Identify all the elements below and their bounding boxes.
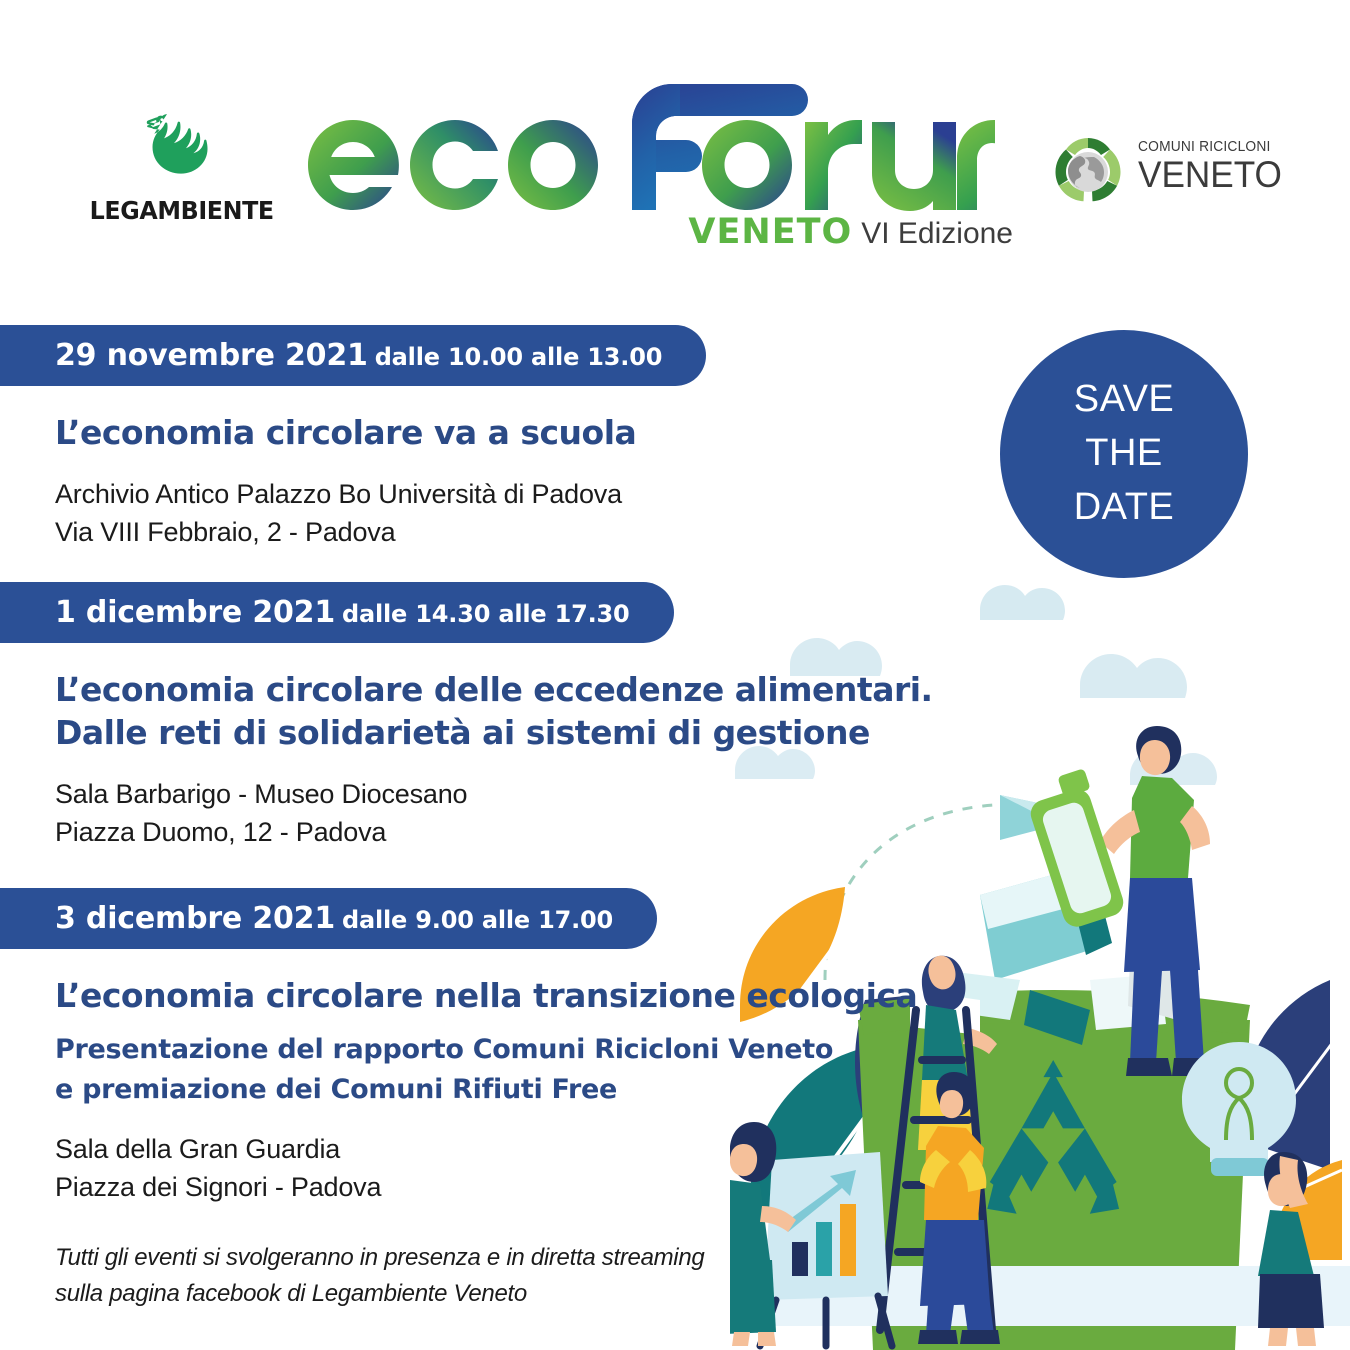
ricicloni-line2: VENETO bbox=[1138, 156, 1282, 195]
event-3-date: 3 dicembre 2021 bbox=[55, 901, 335, 936]
event-3-subtitle: Presentazione del rapporto Comuni Ricicl… bbox=[55, 1030, 917, 1110]
event-1: 29 novembre 2021dalle 10.00 alle 13.00 L… bbox=[0, 325, 706, 552]
event-3-title: L’economia circolare nella transizione e… bbox=[55, 975, 917, 1018]
event-2-body: L’economia circolare delle eccedenze ali… bbox=[0, 669, 933, 851]
save-line-3: DATE bbox=[1074, 481, 1175, 535]
swan-icon bbox=[132, 105, 224, 193]
poster-header: LEGAMBIENTE bbox=[0, 0, 1350, 300]
person-woman-bulb bbox=[1258, 1152, 1324, 1346]
plastic-bottle bbox=[1027, 768, 1127, 930]
footnote-line-1: Tutti gli eventi si svolgeranno in prese… bbox=[55, 1240, 704, 1276]
event-2-title: L’economia circolare delle eccedenze ali… bbox=[55, 669, 933, 755]
event-2-time: dalle 14.30 alle 17.30 bbox=[342, 600, 630, 628]
event-3-venue-line-2: Piazza dei Signori - Padova bbox=[55, 1168, 917, 1206]
person-man-orange bbox=[918, 1072, 1000, 1344]
event-1-time: dalle 10.00 alle 13.00 bbox=[375, 343, 663, 371]
person-man-green bbox=[1027, 726, 1218, 1076]
event-1-date-pill: 29 novembre 2021dalle 10.00 alle 13.00 bbox=[0, 325, 706, 386]
event-1-venue-line-1: Archivio Antico Palazzo Bo Università di… bbox=[55, 475, 706, 513]
ecoforum-logo: VENETOVI Edizione bbox=[295, 62, 1015, 262]
poster: LEGAMBIENTE bbox=[0, 0, 1350, 1350]
event-3-date-pill: 3 dicembre 2021dalle 9.00 alle 17.00 bbox=[0, 888, 657, 949]
event-3-venue-line-1: Sala della Gran Guardia bbox=[55, 1130, 917, 1168]
event-3-body: L’economia circolare nella transizione e… bbox=[0, 975, 917, 1206]
legambiente-wordmark: LEGAMBIENTE bbox=[90, 196, 266, 225]
event-1-body: L’economia circolare va a scuola Archivi… bbox=[0, 412, 706, 552]
light-bulb-icon bbox=[1182, 1042, 1296, 1176]
event-2: 1 dicembre 2021dalle 14.30 alle 17.30 L’… bbox=[0, 582, 933, 851]
event-3: 3 dicembre 2021dalle 9.00 alle 17.00 L’e… bbox=[0, 888, 917, 1206]
event-2-date: 1 dicembre 2021 bbox=[55, 595, 335, 630]
ecoforum-edition: VI Edizione bbox=[861, 217, 1013, 250]
ricicloni-line1: COMUNI RICICLONI bbox=[1138, 138, 1277, 155]
event-1-date: 29 novembre 2021 bbox=[55, 338, 368, 373]
save-the-date-badge: SAVE THE DATE bbox=[1000, 330, 1248, 578]
event-1-venue: Archivio Antico Palazzo Bo Università di… bbox=[55, 475, 706, 552]
footnote-line-2: sulla pagina facebook di Legambiente Ven… bbox=[55, 1276, 704, 1312]
event-3-time: dalle 9.00 alle 17.00 bbox=[342, 906, 613, 934]
event-3-venue: Sala della Gran Guardia Piazza dei Signo… bbox=[55, 1130, 917, 1207]
event-2-title-line-2: Dalle reti di solidarietà ai sistemi di … bbox=[55, 712, 933, 755]
recycling-symbol bbox=[987, 1060, 1119, 1214]
event-3-subtitle-line-1: Presentazione del rapporto Comuni Ricicl… bbox=[55, 1030, 917, 1070]
recycling-globe-icon bbox=[1048, 132, 1128, 212]
save-line-1: SAVE bbox=[1074, 373, 1175, 427]
chart-bar-1 bbox=[792, 1242, 808, 1276]
chart-bar-3 bbox=[840, 1204, 856, 1276]
event-1-title: L’economia circolare va a scuola bbox=[55, 412, 706, 455]
ricicloni-text: COMUNI RICICLONI VENETO bbox=[1138, 138, 1289, 195]
ecoforum-subtitle: VENETOVI Edizione bbox=[688, 212, 1013, 252]
person-woman-yellow bbox=[918, 956, 997, 1275]
legambiente-logo: LEGAMBIENTE bbox=[85, 105, 270, 235]
event-2-venue-line-2: Piazza Duomo, 12 - Padova bbox=[55, 813, 933, 851]
waste-pile bbox=[910, 865, 1190, 1045]
event-2-venue: Sala Barbarigo - Museo Diocesano Piazza … bbox=[55, 775, 933, 852]
event-3-subtitle-line-2: e premiazione dei Comuni Rifiuti Free bbox=[55, 1070, 917, 1110]
ecoforum-region: VENETO bbox=[688, 212, 852, 252]
comuni-ricicloni-logo: COMUNI RICICLONI VENETO bbox=[1048, 130, 1278, 220]
save-line-2: THE bbox=[1085, 427, 1163, 481]
chart-bar-2 bbox=[816, 1222, 832, 1276]
paper-plane bbox=[1000, 795, 1095, 840]
event-1-venue-line-2: Via VIII Febbraio, 2 - Padova bbox=[55, 513, 706, 551]
event-2-title-line-1: L’economia circolare delle eccedenze ali… bbox=[55, 669, 933, 712]
footnote: Tutti gli eventi si svolgeranno in prese… bbox=[55, 1240, 704, 1312]
event-2-venue-line-1: Sala Barbarigo - Museo Diocesano bbox=[55, 775, 933, 813]
event-2-date-pill: 1 dicembre 2021dalle 14.30 alle 17.30 bbox=[0, 582, 674, 643]
